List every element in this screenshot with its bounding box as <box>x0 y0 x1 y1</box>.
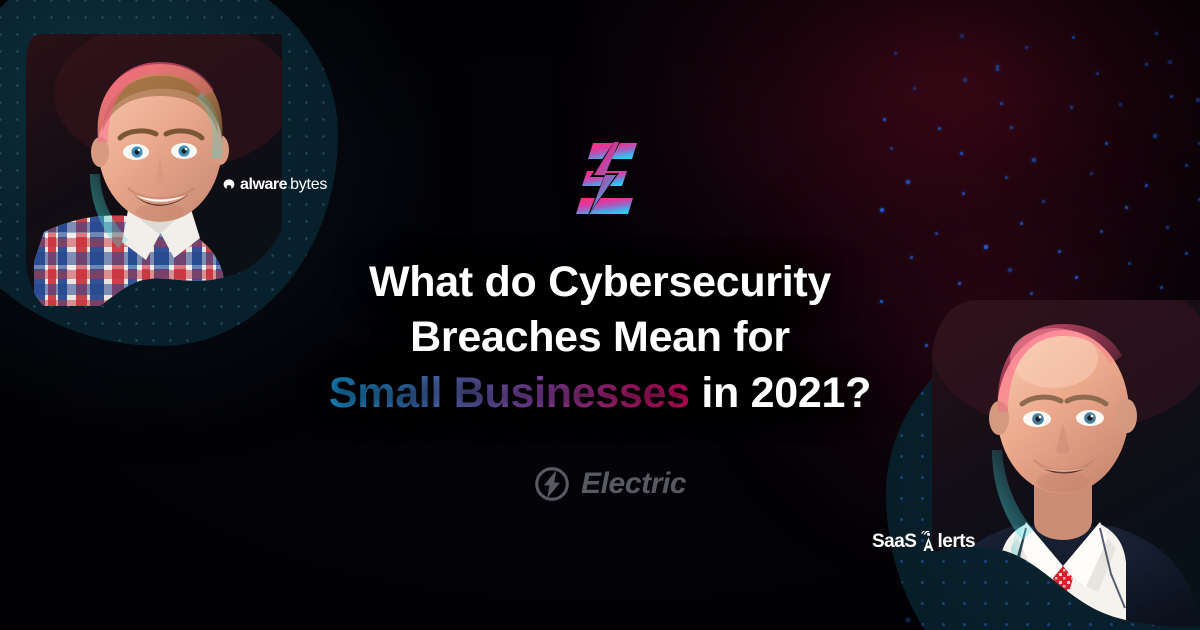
headline-line-2: Breaches Mean for <box>0 310 1200 365</box>
malwarebytes-label-light: bytes <box>290 176 327 194</box>
saas-alerts-logo: SaaS lerts <box>872 531 975 551</box>
electric-logo: Electric <box>534 466 686 502</box>
malwarebytes-label-bold: alware <box>240 176 287 194</box>
page-title: What do Cybersecurity Breaches Mean for … <box>0 255 1200 421</box>
lightning-bolt-circle-icon <box>534 466 570 502</box>
headline-highlight: Small Businesses <box>329 369 690 417</box>
headline-suffix: in 2021? <box>690 369 871 417</box>
electric-label: Electric <box>581 467 686 501</box>
headline-line-3: Small Businesses in 2021? <box>0 366 1200 421</box>
malwarebytes-m-icon <box>222 178 236 192</box>
electric-lightning-e-icon <box>575 137 641 219</box>
malwarebytes-logo: alware bytes <box>222 176 327 194</box>
promo-card: alware bytes What do Cybersecurity Breac… <box>0 0 1200 630</box>
saas-alerts-label-suffix: lerts <box>937 532 975 551</box>
alert-signal-a-icon <box>920 531 937 552</box>
saas-alerts-label-prefix: SaaS <box>872 532 916 551</box>
headline-line-1: What do Cybersecurity <box>0 255 1200 310</box>
